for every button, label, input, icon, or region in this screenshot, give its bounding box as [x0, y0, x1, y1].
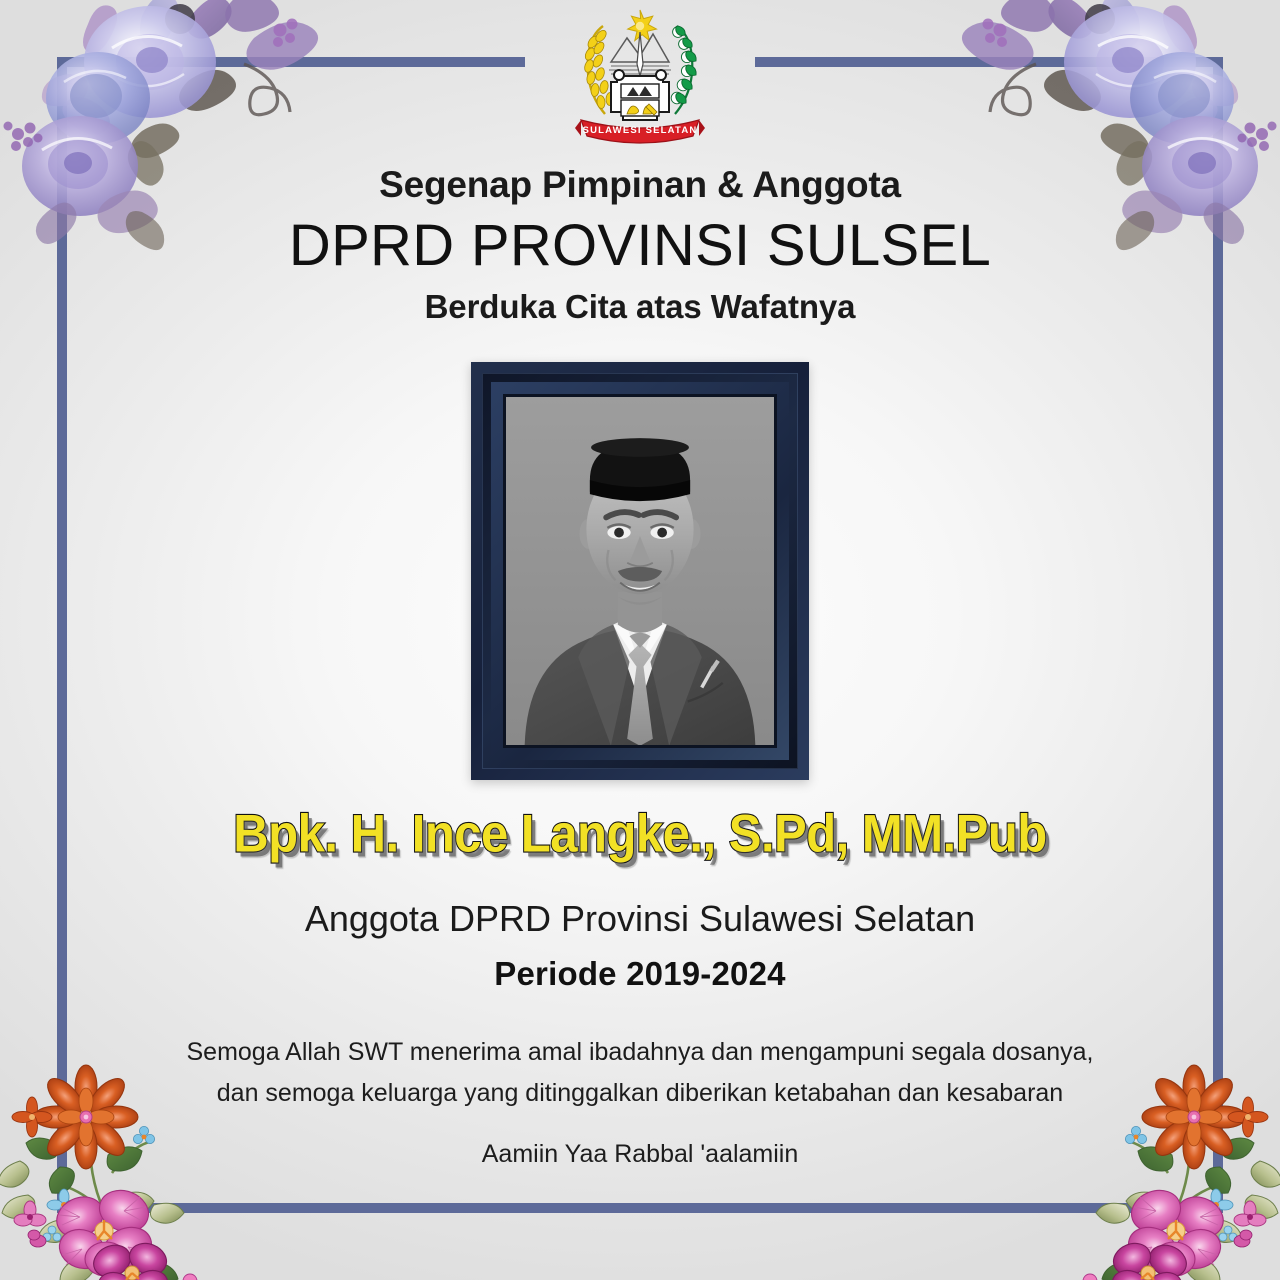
prayer-closing: Aamiin Yaa Rabbal 'aalamiin: [0, 1140, 1280, 1169]
portrait-frame-bevel-mid: [491, 382, 789, 760]
frame-border-bottom: [57, 1203, 1223, 1213]
prayer-line-2: dan semoga keluarga yang ditinggalkan di…: [0, 1073, 1280, 1114]
portrait-frame-bevel-inner: [503, 394, 777, 748]
emblem-cotton: [671, 26, 696, 114]
frame-border-top-left: [57, 57, 525, 67]
deceased-name-row: Bpk. H. Ince Langke., S.Pd, MM.Pub: [0, 806, 1280, 862]
memorial-poster: SULAWESI SELATAN Segenap Pimpinan & Angg…: [0, 0, 1280, 1280]
deceased-role: Anggota DPRD Provinsi Sulawesi Selatan: [0, 898, 1280, 940]
prayer-text: Semoga Allah SWT menerima amal ibadahnya…: [0, 1032, 1280, 1113]
emblem-ribbon: SULAWESI SELATAN: [575, 120, 705, 143]
header-line-organization-name: DPRD PROVINSI SULSEL: [0, 211, 1280, 282]
deceased-name: Bpk. H. Ince Langke., S.Pd, MM.Pub: [233, 804, 1046, 864]
header-line-condolence: Berduka Cita atas Wafatnya: [0, 288, 1280, 326]
header-block: Segenap Pimpinan & Anggota DPRD PROVINSI…: [0, 164, 1280, 326]
provincial-emblem: SULAWESI SELATAN: [565, 4, 715, 146]
emblem-ribbon-text: SULAWESI SELATAN: [583, 125, 698, 136]
embroidery-magenta-flower: [88, 1238, 171, 1280]
portrait-photo: [506, 397, 774, 745]
prayer-line-1: Semoga Allah SWT menerima amal ibadahnya…: [0, 1032, 1280, 1073]
frame-border-top-right: [755, 57, 1223, 67]
portrait-frame: [471, 362, 809, 780]
header-line-organization-prefix: Segenap Pimpinan & Anggota: [0, 164, 1280, 205]
portrait-frame-bevel-outer: [482, 373, 798, 769]
emblem-fortress: [611, 70, 669, 120]
deceased-period: Periode 2019-2024: [0, 955, 1280, 993]
